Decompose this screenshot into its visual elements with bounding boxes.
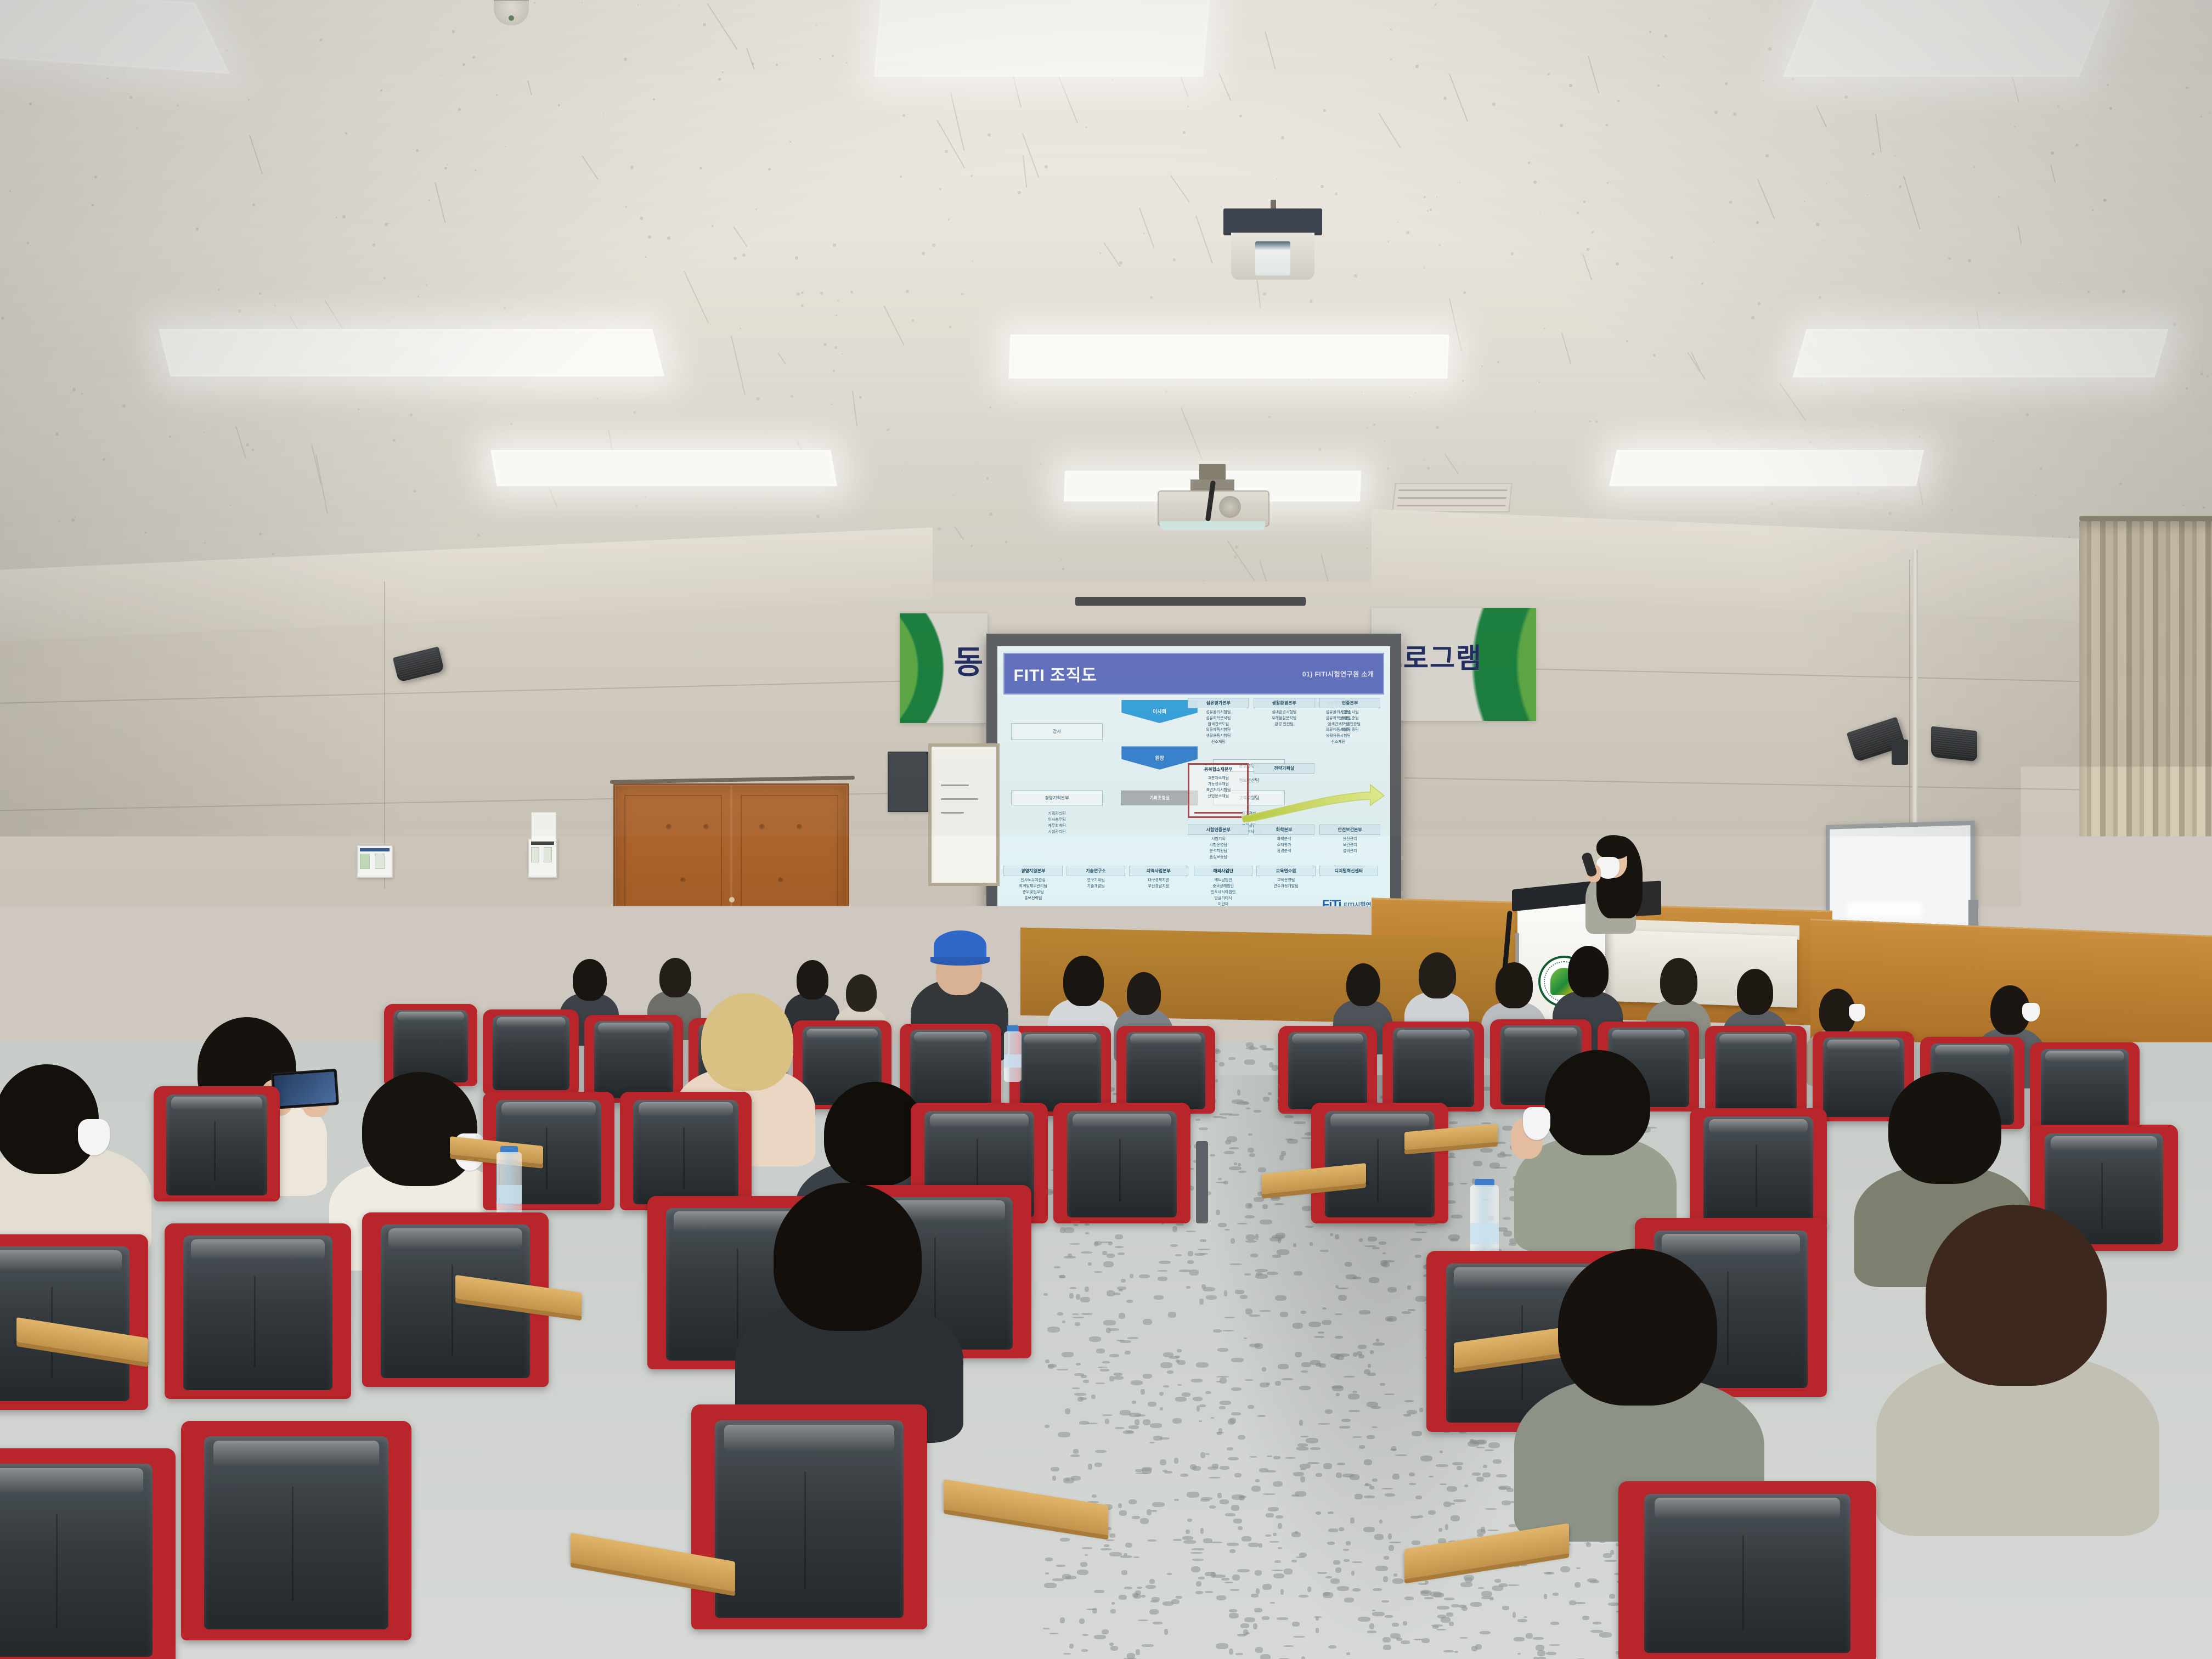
list-item: 인도네시아법인 bbox=[1194, 890, 1252, 896]
org-dept-list: 섬유물리시험팀 섬유화학분석팀 염색견뢰도팀 의류제품시험팀 생활용품시험팀 신… bbox=[1188, 708, 1249, 746]
seat-leg bbox=[1196, 1141, 1208, 1223]
panel-switch[interactable] bbox=[531, 847, 539, 862]
list-item: 시설관리팀 bbox=[1011, 830, 1102, 836]
board-ink bbox=[941, 798, 978, 800]
list-item: 품질보증팀 bbox=[1188, 855, 1249, 861]
seat[interactable] bbox=[181, 1421, 411, 1640]
list-item: 연구기획팀 bbox=[1066, 878, 1125, 884]
ceiling-light-2 bbox=[874, 0, 1211, 77]
person-hair bbox=[1063, 956, 1104, 1006]
panel-switch[interactable] bbox=[544, 847, 552, 862]
org-dept-3: 인증본부 인증심사팀 제품인증팀 시스템인증팀 해외인증팀 bbox=[1319, 698, 1380, 755]
ceiling-light-6 bbox=[1792, 329, 2168, 377]
door-tuft bbox=[699, 917, 704, 922]
bottle-label bbox=[1004, 1054, 1022, 1068]
list-item: 인사총무팀 bbox=[1011, 817, 1102, 823]
list-item: 기능성소재팀 bbox=[1189, 782, 1247, 788]
speaker-bracket bbox=[1892, 740, 1908, 765]
panel-bar bbox=[360, 848, 390, 851]
face-mask bbox=[2022, 1003, 2040, 1022]
org-dept-title: 전략기획실 bbox=[1254, 763, 1314, 774]
list-item: 제품인증팀 bbox=[1319, 716, 1380, 722]
person-hair bbox=[701, 993, 793, 1091]
ceiling-camera-icon bbox=[1223, 208, 1322, 280]
org-dept-5: 시험인증본부 시험기획 시험운영팀 분석지원팀 품질보증팀 bbox=[1188, 825, 1249, 871]
door-tuft bbox=[797, 917, 802, 922]
person-hair bbox=[1346, 963, 1380, 1006]
list-item: 소재평가 bbox=[1254, 843, 1314, 849]
list-item: 섬유물리시험팀 bbox=[1188, 710, 1249, 716]
list-item: 고분자소재팀 bbox=[1189, 776, 1247, 782]
ceiling-light-7 bbox=[490, 450, 837, 486]
seat[interactable] bbox=[1383, 1022, 1484, 1111]
wall-seam-vertical bbox=[1909, 560, 1910, 867]
flipchart-board bbox=[928, 743, 1000, 886]
padded-double-door[interactable] bbox=[613, 783, 849, 964]
highlight-underline bbox=[1194, 812, 1243, 814]
org-dept-list: 인사노무지원실 회계및재무관리팀 총무및법무팀 홍보전략팀 bbox=[1003, 876, 1062, 901]
bottle-label bbox=[496, 1185, 522, 1204]
org-dept-list: 베트남법인 중국상해법인 인도네시아법인 방글라데시 미얀마 bbox=[1194, 876, 1252, 907]
curtain-rail bbox=[2079, 516, 2212, 521]
org-dept-10: 지역사업본부 대구경북지원 부산경남지원 bbox=[1129, 866, 1188, 912]
list-item: 총무및법무팀 bbox=[1003, 890, 1062, 896]
person-hair bbox=[1545, 1050, 1650, 1155]
door-lock[interactable] bbox=[729, 897, 735, 902]
audience-member bbox=[0, 1059, 154, 1234]
person-hair bbox=[497, 946, 531, 989]
org-dept-2: 생활환경본부 실내환경시험팀 유해물질분석팀 환경 안전팀 bbox=[1254, 698, 1314, 755]
seat[interactable] bbox=[620, 1092, 752, 1210]
seat[interactable] bbox=[154, 1086, 280, 1201]
person-hair bbox=[1496, 962, 1533, 1008]
list-item: 분석지원팀 bbox=[1188, 849, 1249, 855]
list-item: 연수과정개발팀 bbox=[1256, 884, 1315, 890]
person-hair bbox=[1127, 972, 1161, 1015]
wall-control-panel-1[interactable] bbox=[357, 845, 393, 878]
door-tuft bbox=[662, 917, 667, 922]
person-hair bbox=[846, 974, 877, 1012]
list-item: 실내환경시험팀 bbox=[1254, 710, 1314, 716]
projection-screen: FITI 조직도 01) FITI시험연구원 소개 이사회 원장 감사 경영기획… bbox=[997, 646, 1390, 917]
wall-notice bbox=[531, 812, 556, 842]
org-dept-11: 해외사업단 베트남법인 중국상해법인 인도네시아법인 방글라데시 미얀마 bbox=[1194, 866, 1252, 912]
face-mask bbox=[1849, 1004, 1865, 1022]
banner-left-text: 동 bbox=[954, 636, 984, 682]
door-panel bbox=[741, 795, 839, 953]
panel-bar bbox=[531, 842, 554, 845]
org-dept-list: 교육운영팀 연수과정개발팀 bbox=[1256, 876, 1315, 890]
org-dept-6: 화학본부 화학분석 소재평가 환경분석 bbox=[1254, 825, 1314, 871]
person-hair bbox=[362, 1072, 477, 1186]
list-item: 대구경북지원 bbox=[1129, 878, 1188, 884]
seat[interactable] bbox=[1618, 1481, 1876, 1659]
list-item: 안전관리 bbox=[1319, 837, 1380, 843]
person-hair bbox=[1737, 969, 1773, 1015]
org-dept-title: 경영지원본부 bbox=[1003, 866, 1062, 876]
list-item: 해외인증팀 bbox=[1319, 727, 1380, 733]
seat[interactable] bbox=[1705, 1026, 1807, 1116]
presenter bbox=[1580, 823, 1651, 927]
ceiling-projector bbox=[1158, 483, 1267, 535]
audience-member-foreground bbox=[735, 1174, 966, 1415]
person-hair bbox=[1568, 946, 1609, 997]
org-node-auditor: 감사 bbox=[1011, 723, 1102, 740]
org-dept-title: 해외사업단 bbox=[1194, 866, 1252, 876]
list-item: 유해물질분석팀 bbox=[1254, 716, 1314, 722]
slide-fiti-org-chart: FITI 조직도 01) FITI시험연구원 소개 이사회 원장 감사 경영기획… bbox=[997, 646, 1390, 917]
person-hair bbox=[1558, 1249, 1717, 1406]
list-item: 기술개발팀 bbox=[1066, 884, 1125, 890]
seat-leg bbox=[1377, 1328, 1393, 1448]
org-dept-title: 섬유평가본부 bbox=[1188, 698, 1249, 708]
list-item: 의류제품시험팀 bbox=[1188, 727, 1249, 733]
seat[interactable] bbox=[1053, 1103, 1190, 1223]
org-dept-9: 기술연구소 연구기획팀 기술개발팀 bbox=[1066, 866, 1125, 912]
list-item: 섬유화학분석팀 bbox=[1188, 716, 1249, 722]
list-item: 인증심사팀 bbox=[1319, 710, 1380, 716]
org-dept-1: 섬유평가본부 섬유물리시험팀 섬유화학분석팀 염색견뢰도팀 의류제품시험팀 생활… bbox=[1188, 698, 1249, 755]
org-dept-title: 인증본부 bbox=[1319, 698, 1380, 708]
list-item: 회계및재무관리팀 bbox=[1003, 884, 1062, 890]
person-hair bbox=[573, 959, 607, 1001]
door-tuft bbox=[797, 824, 802, 830]
person-hair bbox=[1419, 952, 1456, 998]
right-wall-ledge bbox=[2063, 845, 2212, 872]
cap-brim bbox=[930, 957, 990, 966]
seat[interactable] bbox=[165, 1223, 351, 1399]
list-item: 신소재팀 bbox=[1188, 740, 1249, 746]
org-box-management-hq: 경영기획본부 bbox=[1011, 791, 1102, 805]
list-item: 기획관리팀 bbox=[1011, 811, 1102, 817]
blue-baseball-cap bbox=[934, 930, 986, 961]
person-hair bbox=[1888, 1072, 2001, 1184]
list-item: 교육운영팀 bbox=[1256, 878, 1315, 884]
org-dept-list: 안전관리 보건관리 설비관리 bbox=[1319, 835, 1380, 855]
org-dept-list: 고분자소재팀 기능성소재팀 표면처리시험팀 산업용소재팀 bbox=[1189, 774, 1247, 799]
wall-control-panel-2[interactable] bbox=[528, 838, 557, 878]
door-handle[interactable] bbox=[708, 926, 725, 930]
audience-member bbox=[1514, 1042, 1679, 1229]
ceiling-light-9 bbox=[1609, 450, 1924, 486]
seat[interactable] bbox=[1690, 1108, 1827, 1229]
person-hair bbox=[1926, 1205, 2107, 1386]
org-dept-list: 시험기획 시험운영팀 분석지원팀 품질보증팀 bbox=[1188, 835, 1249, 860]
door-tuft bbox=[759, 917, 765, 922]
org-dept-7: 안전보건본부 안전관리 보건관리 설비관리 bbox=[1319, 825, 1380, 871]
audience-member-foreground bbox=[1514, 1240, 1767, 1514]
ceiling-light-3 bbox=[1783, 0, 2113, 77]
seat-leg bbox=[1333, 1229, 1347, 1333]
panel-switch[interactable] bbox=[375, 854, 385, 869]
ceiling-light-5 bbox=[1009, 335, 1449, 379]
org-dept-list: 연구기획팀 기술개발팀 bbox=[1066, 876, 1125, 890]
bottle-label bbox=[1470, 1223, 1499, 1244]
list-item: 시험기획 bbox=[1188, 837, 1249, 843]
list-item: 방글라데시 bbox=[1194, 896, 1252, 902]
list-item: 인사노무지원실 bbox=[1003, 878, 1062, 884]
slide-eyebrow: 01) FITI시험연구원 소개 bbox=[1302, 669, 1374, 679]
org-dept-title: 디지털혁신센터 bbox=[1319, 866, 1378, 876]
person-hair bbox=[1660, 958, 1697, 1005]
door-leaf-right[interactable] bbox=[731, 785, 848, 963]
phone-screen bbox=[274, 1071, 336, 1107]
list-item: 생활용품시험팀 bbox=[1188, 733, 1249, 740]
seat[interactable] bbox=[2030, 1042, 2140, 1137]
list-item: 시스템인증팀 bbox=[1319, 722, 1380, 728]
list-item: 중국상해법인 bbox=[1194, 884, 1252, 890]
screen-roller bbox=[1075, 597, 1306, 606]
org-dept-12: 교육연수원 교육운영팀 연수과정개발팀 bbox=[1256, 866, 1315, 912]
org-dept-highlight: 융복합소재본부 고분자소재팀 기능성소재팀 표면처리시험팀 산업용소재팀 bbox=[1188, 763, 1249, 818]
face-mask bbox=[78, 1119, 110, 1155]
org-dept-8: 경영지원본부 인사노무지원실 회계및재무관리팀 총무및법무팀 홍보전략팀 bbox=[1003, 866, 1062, 912]
fiti-logo-mark: FiTi bbox=[1322, 898, 1341, 912]
seat[interactable] bbox=[691, 1404, 927, 1629]
whiteboard-smear bbox=[1846, 902, 1922, 918]
seat[interactable] bbox=[584, 1015, 683, 1103]
wall-display-box bbox=[888, 752, 928, 812]
seat[interactable] bbox=[1311, 1103, 1448, 1223]
seat[interactable] bbox=[1278, 1026, 1377, 1114]
slide-title: FITI 조직도 bbox=[1013, 662, 1097, 686]
list-item: 시험운영팀 bbox=[1188, 843, 1249, 849]
person-hair bbox=[774, 1183, 922, 1331]
list-item: 환경분석 bbox=[1254, 849, 1314, 855]
list-item: 베트남법인 bbox=[1194, 878, 1252, 884]
org-dept-title: 생활환경본부 bbox=[1254, 698, 1314, 708]
list-item: 보건관리 bbox=[1319, 843, 1380, 849]
org-dept-title: 화학본부 bbox=[1254, 825, 1314, 835]
list-item: 재무회계팀 bbox=[1011, 823, 1102, 830]
wall-speaker-right-2 bbox=[1931, 726, 1977, 762]
air-vent-2 bbox=[1392, 483, 1513, 512]
org-dept-title: 지역사업본부 bbox=[1129, 866, 1188, 876]
slide-header: FITI 조직도 01) FITI시험연구원 소개 bbox=[1003, 653, 1384, 695]
org-dept-title: 시험인증본부 bbox=[1188, 825, 1249, 835]
seat[interactable] bbox=[1116, 1026, 1215, 1114]
lecture-hall-photo: 동 프로그램 FITI 조직도 01) FITI시험연구원 소개 이사회 원장 … bbox=[0, 0, 2212, 1659]
org-dept-title: 교육연수원 bbox=[1256, 866, 1315, 876]
org-dept-list: 실내환경시험팀 유해물질분석팀 환경 안전팀 bbox=[1254, 708, 1314, 728]
presenter-hair-front bbox=[1596, 835, 1630, 859]
org-left-list: 기획관리팀 인사총무팀 재무회계팀 시설관리팀 bbox=[1011, 810, 1102, 835]
list-item: 홍보전략팀 bbox=[1003, 896, 1062, 902]
banner-left: 동 bbox=[900, 613, 988, 723]
list-item: 화학분석 bbox=[1254, 837, 1314, 843]
seat[interactable] bbox=[0, 1448, 176, 1659]
list-item: 부산경남지원 bbox=[1129, 884, 1188, 890]
org-dept-list: 대구경북지원 부산경남지원 bbox=[1129, 876, 1188, 890]
board-ink bbox=[941, 785, 969, 786]
water-bottle[interactable] bbox=[1004, 1031, 1022, 1082]
org-dept-list: 화학분석 소재평가 환경분석 bbox=[1254, 835, 1314, 855]
window-curtain[interactable] bbox=[2079, 521, 2212, 861]
list-item: 염색견뢰도팀 bbox=[1188, 722, 1249, 728]
list-item: 환경 안전팀 bbox=[1254, 722, 1314, 728]
board-ink bbox=[941, 812, 964, 814]
list-item: 산업용소재팀 bbox=[1189, 794, 1247, 800]
face-mask bbox=[448, 956, 464, 972]
org-dept-title: 융복합소재본부 bbox=[1189, 765, 1247, 774]
panel-switch[interactable] bbox=[360, 854, 370, 869]
ceiling-light-4 bbox=[159, 329, 664, 376]
face-mask bbox=[1523, 1107, 1550, 1140]
list-item: 미얀마 bbox=[1194, 902, 1252, 908]
list-item: 설비관리 bbox=[1319, 849, 1380, 855]
wall-seam-vertical bbox=[384, 582, 385, 889]
list-item: 표면처리시험팀 bbox=[1189, 788, 1247, 794]
audience-member-foreground bbox=[1876, 1196, 2162, 1503]
org-dept-title: 기술연구소 bbox=[1066, 866, 1125, 876]
org-dept-4: 전략기획실 bbox=[1254, 763, 1314, 780]
org-dept-list: 인증심사팀 제품인증팀 시스템인증팀 해외인증팀 bbox=[1319, 708, 1380, 733]
org-dept-title: 안전보건본부 bbox=[1319, 825, 1380, 835]
